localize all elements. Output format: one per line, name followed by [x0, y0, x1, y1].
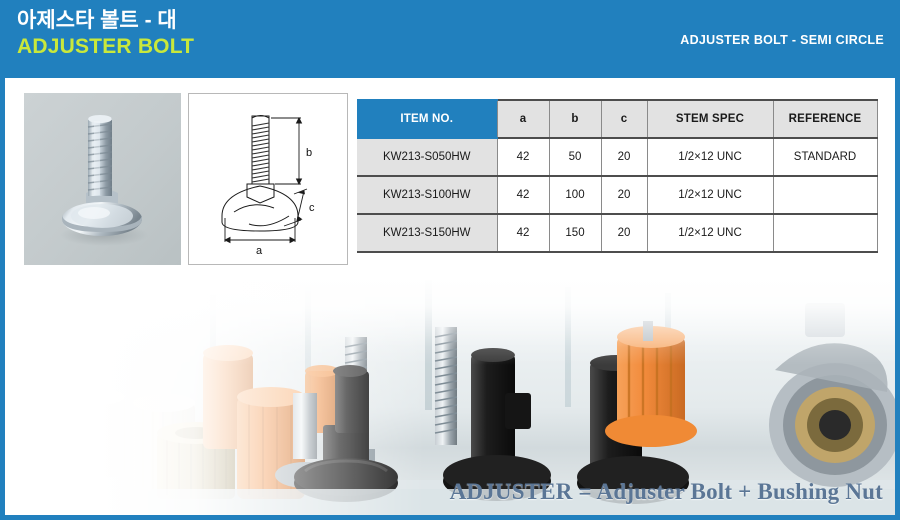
product-family-banner: ADJUSTER = Adjuster Bolt + Bushing Nut: [5, 275, 895, 515]
table-row: KW213-S150HW 42 150 20 1/2×12 UNC: [357, 214, 877, 252]
page-title-english: ADJUSTER BOLT: [17, 34, 194, 60]
cell-c: 20: [601, 176, 647, 214]
cell-a: 42: [497, 214, 549, 252]
dimension-label-c: c: [309, 202, 315, 214]
steel-adjuster-bolt-c: [435, 327, 457, 445]
table-row: KW213-S100HW 42 100 20 1/2×12 UNC: [357, 176, 877, 214]
cell-item-no: KW213-S050HW: [357, 138, 497, 176]
cell-b: 50: [549, 138, 601, 176]
cell-b: 100: [549, 176, 601, 214]
header-category-label: ADJUSTER BOLT - SEMI CIRCLE: [680, 33, 884, 47]
cell-stem-spec: 1/2×12 UNC: [647, 138, 773, 176]
banner-caption: ADJUSTER = Adjuster Bolt + Bushing Nut: [450, 479, 883, 505]
cell-reference: [773, 176, 877, 214]
cell-b: 150: [549, 214, 601, 252]
product-spec-page: 아제스타 볼트 - 대 ADJUSTER BOLT ADJUSTER BOLT …: [0, 0, 900, 520]
cell-stem-spec: 1/2×12 UNC: [647, 214, 773, 252]
col-header-b: b: [549, 100, 601, 138]
dimension-label-b: b: [306, 147, 312, 159]
cell-reference: STANDARD: [773, 138, 877, 176]
frame-border-right: [895, 78, 900, 520]
header-title-group: 아제스타 볼트 - 대 ADJUSTER BOLT: [17, 8, 194, 60]
ivory-bushing-nut-a: [73, 389, 125, 477]
col-header-item-no: ITEM NO.: [357, 100, 497, 138]
frame-border-bottom: [0, 515, 900, 520]
drawing-svg: b a c: [189, 94, 347, 264]
cell-item-no: KW213-S100HW: [357, 176, 497, 214]
cell-reference: [773, 214, 877, 252]
cell-item-no: KW213-S150HW: [357, 214, 497, 252]
cell-c: 20: [601, 214, 647, 252]
page-header: 아제스타 볼트 - 대 ADJUSTER BOLT ADJUSTER BOLT …: [0, 0, 900, 78]
table-header-row: ITEM NO. a b c STEM SPEC REFERENCE: [357, 100, 877, 138]
cell-a: 42: [497, 138, 549, 176]
specification-table: ITEM NO. a b c STEM SPEC REFERENCE KW213…: [357, 99, 878, 253]
cell-stem-spec: 1/2×12 UNC: [647, 176, 773, 214]
orange-star-knob: [605, 321, 697, 447]
page-title-korean: 아제스타 볼트 - 대: [17, 8, 194, 34]
cell-a: 42: [497, 176, 549, 214]
col-header-stem-spec: STEM SPEC: [647, 100, 773, 138]
bolt-photo-image: [24, 93, 181, 265]
dimension-label-a: a: [256, 245, 263, 257]
col-header-reference: REFERENCE: [773, 100, 877, 138]
technical-drawing: b a c: [188, 93, 348, 265]
table-row: KW213-S050HW 42 50 20 1/2×12 UNC STANDAR…: [357, 138, 877, 176]
product-photo: [24, 93, 181, 265]
col-header-a: a: [497, 100, 549, 138]
col-header-c: c: [601, 100, 647, 138]
cell-c: 20: [601, 138, 647, 176]
